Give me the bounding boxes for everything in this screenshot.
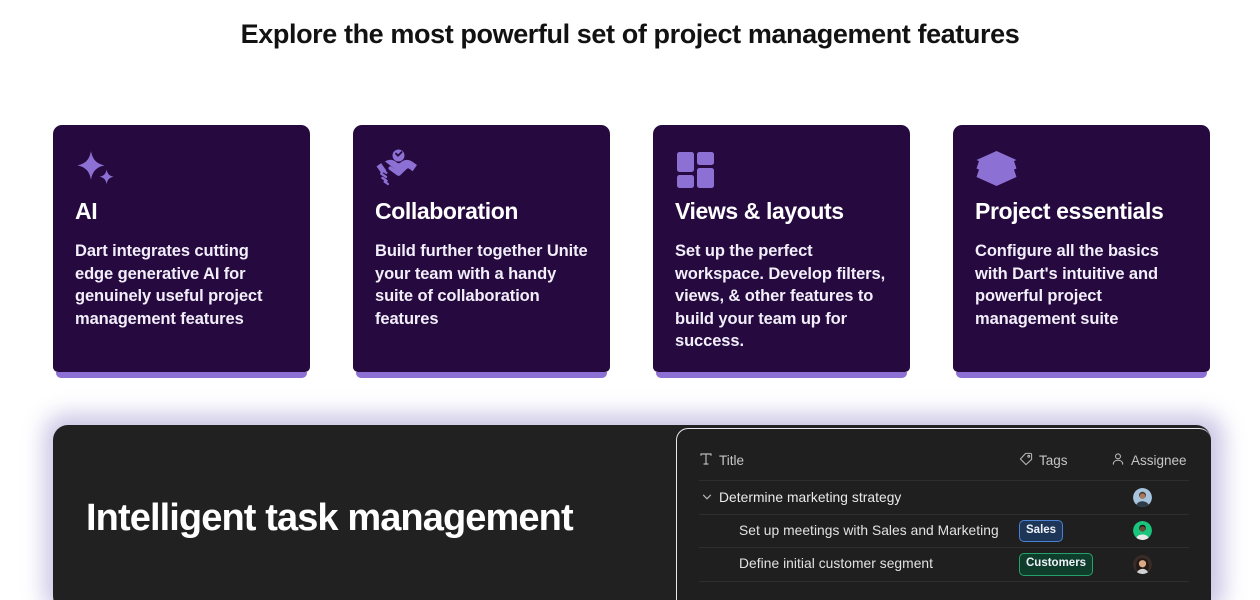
feature-card-title: AI <box>75 199 288 224</box>
feature-card-body: Build further together Unite your team w… <box>375 240 588 330</box>
column-header-tags-label: Tags <box>1039 453 1068 468</box>
column-header-assignee-label: Assignee <box>1131 453 1187 468</box>
feature-card-collaboration[interactable]: Collaboration Build further together Uni… <box>353 125 610 372</box>
person-icon <box>1111 452 1125 469</box>
chevron-down-icon[interactable] <box>699 491 715 503</box>
table-row[interactable]: Set up meetings with Sales and Marketing… <box>699 515 1189 549</box>
task-tags[interactable]: Customers <box>1019 553 1111 576</box>
feature-card-title: Project essentials <box>975 199 1188 224</box>
task-assignee[interactable] <box>1111 488 1189 507</box>
avatar <box>1133 521 1152 540</box>
task-assignee[interactable] <box>1111 521 1189 540</box>
column-header-tags[interactable]: Tags <box>1019 452 1111 469</box>
column-header-title-label: Title <box>719 453 744 468</box>
feature-card-title: Views & layouts <box>675 199 888 224</box>
table-header-row: Title Tags <box>699 429 1189 481</box>
showcase-heading: Intelligent task management <box>86 496 573 540</box>
feature-card-views-layouts[interactable]: Views & layouts Set up the perfect works… <box>653 125 910 372</box>
task-title: Set up meetings with Sales and Marketing <box>739 523 999 538</box>
layers-icon <box>975 149 1188 195</box>
task-assignee[interactable] <box>1111 555 1189 574</box>
feature-card-project-essentials[interactable]: Project essentials Configure all the bas… <box>953 125 1210 372</box>
avatar <box>1133 488 1152 507</box>
column-header-title[interactable]: Title <box>699 452 1019 469</box>
task-table-card: Title Tags <box>676 428 1211 600</box>
text-type-icon <box>699 452 713 469</box>
tag-badge[interactable]: Sales <box>1019 520 1063 543</box>
feature-card-body: Set up the perfect workspace. Develop fi… <box>675 240 888 352</box>
card-accent-bar <box>656 372 907 378</box>
table-row[interactable]: Determine marketing strategy <box>699 481 1189 515</box>
task-title: Determine marketing strategy <box>719 490 901 505</box>
tag-icon <box>1019 452 1033 469</box>
grid-layout-icon <box>675 149 888 195</box>
landing-page: Explore the most powerful set of project… <box>0 0 1260 600</box>
card-accent-bar <box>56 372 307 378</box>
column-header-assignee[interactable]: Assignee <box>1111 452 1189 469</box>
feature-card-list: AI Dart integrates cutting edge generati… <box>53 125 1209 372</box>
feature-card-title: Collaboration <box>375 199 588 224</box>
table-row[interactable]: Define initial customer segment Customer… <box>699 548 1189 582</box>
handshake-icon <box>375 149 588 195</box>
task-title: Define initial customer segment <box>739 556 933 571</box>
feature-card-body: Configure all the basics with Dart's int… <box>975 240 1188 330</box>
card-accent-bar <box>956 372 1207 378</box>
feature-card-ai[interactable]: AI Dart integrates cutting edge generati… <box>53 125 310 372</box>
card-accent-bar <box>356 372 607 378</box>
tag-badge[interactable]: Customers <box>1019 553 1093 576</box>
page-title: Explore the most powerful set of project… <box>0 18 1260 50</box>
feature-card-body: Dart integrates cutting edge generative … <box>75 240 288 330</box>
avatar <box>1133 555 1152 574</box>
task-tags[interactable]: Sales <box>1019 520 1111 543</box>
sparkle-icon <box>75 149 288 195</box>
